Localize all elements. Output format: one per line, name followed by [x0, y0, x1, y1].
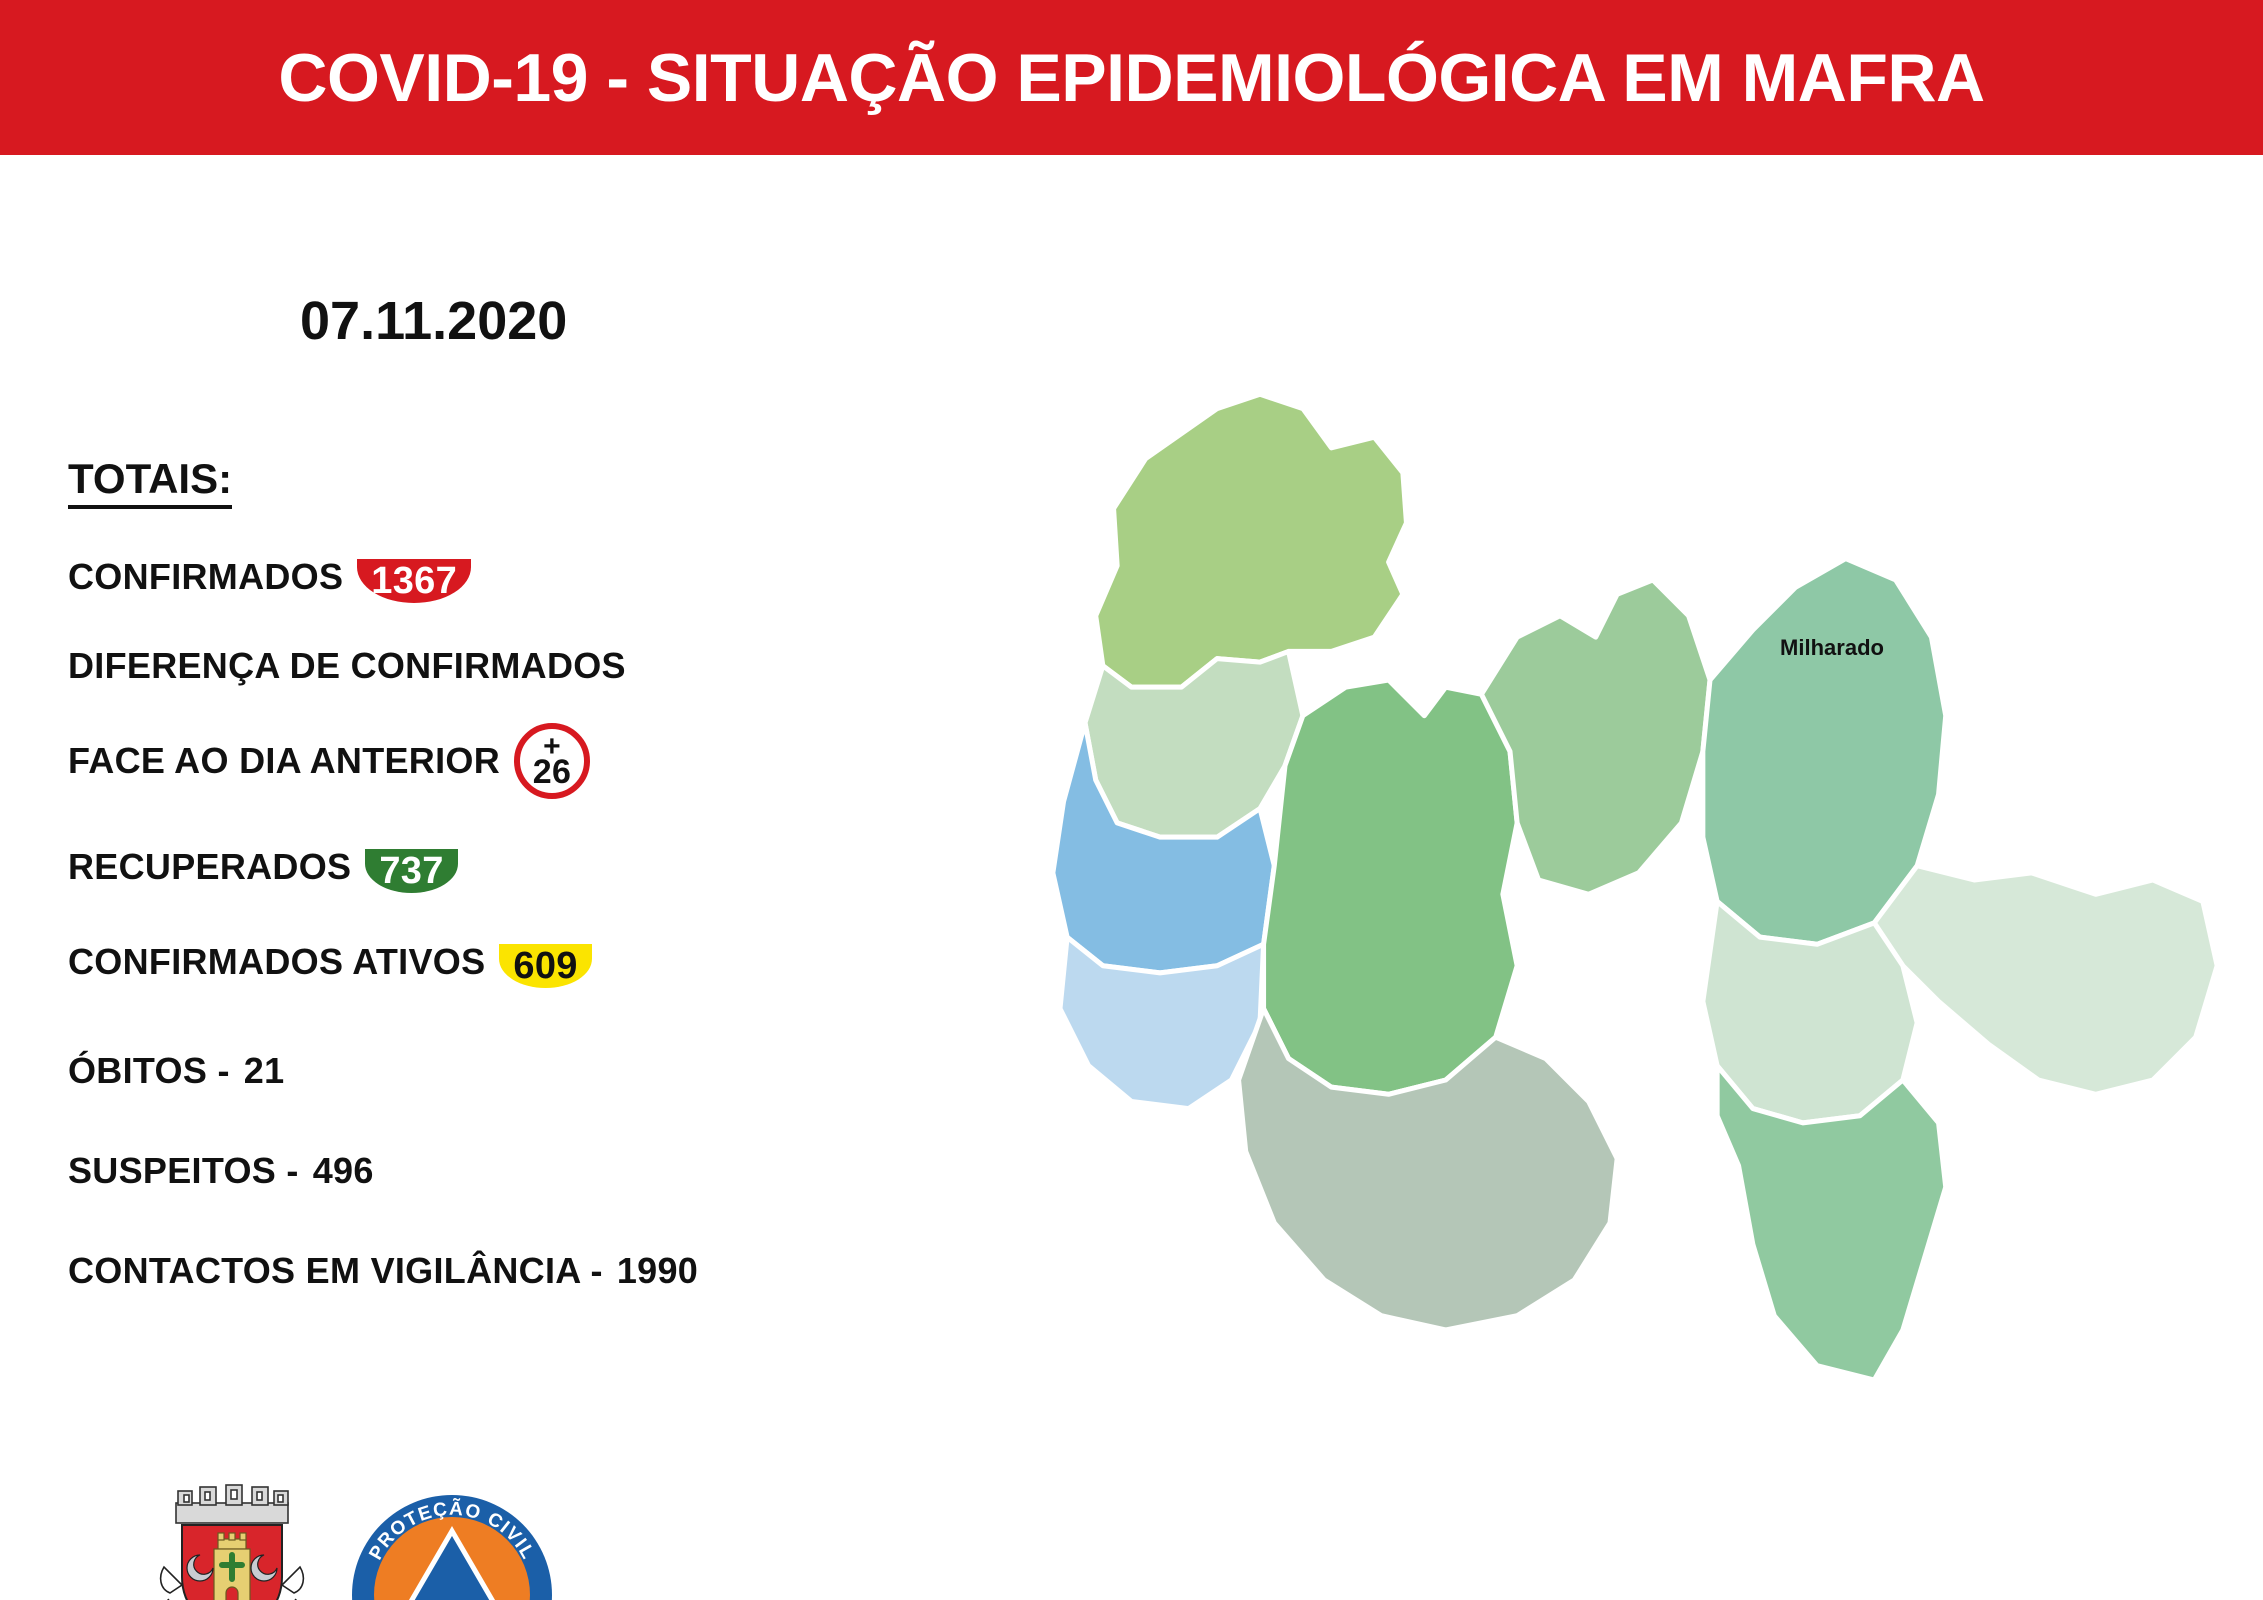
diferenca-label-line1: DIFERENÇA DE CONFIRMADOS — [68, 645, 626, 687]
row-diferenca-line1: DIFERENÇA DE CONFIRMADOS — [68, 645, 626, 687]
report-date: 07.11.2020 — [300, 290, 567, 352]
row-diferenca-line2: FACE AO DIA ANTERIOR + 26 — [68, 723, 590, 799]
infographic-page: COVID-19 - SITUAÇÃO EPIDEMIOLÓGICA EM MA… — [0, 0, 2263, 1600]
page-header: COVID-19 - SITUAÇÃO EPIDEMIOLÓGICA EM MA… — [0, 0, 2263, 155]
municipio-mafra-logo: MUNICÍPIO DE MAFRA — [161, 1485, 304, 1600]
logos-row: MUNICÍPIO DE MAFRA PROTEÇÃO CIVIL MAFR — [140, 1475, 560, 1600]
diferenca-value: 26 — [533, 759, 571, 787]
totals-heading: TOTAIS: — [68, 455, 232, 509]
row-suspeitos: SUSPEITOS - 496 — [68, 1150, 374, 1192]
protecao-civil-logo: PROTEÇÃO CIVIL MAFRA — [352, 1495, 552, 1600]
suspeitos-value: 496 — [313, 1150, 374, 1192]
region-milharado — [1874, 866, 2217, 1095]
logo-group: MUNICÍPIO DE MAFRA PROTEÇÃO CIVIL MAFR — [140, 1475, 560, 1600]
vigilancia-value: 1990 — [617, 1250, 698, 1292]
obitos-label: ÓBITOS - — [68, 1050, 230, 1092]
map-svg — [760, 180, 2260, 1580]
region-azueira-sobral — [1481, 580, 1710, 894]
row-recuperados: RECUPERADOS 737 — [68, 845, 458, 889]
region-encarnacao — [1096, 394, 1407, 687]
ativos-label: CONFIRMADOS ATIVOS — [68, 941, 485, 983]
mafra-municipality-map: Encarnação59479+1Santo Isidoro29821+1Eri… — [760, 180, 2260, 1580]
region-mafra — [1264, 680, 1518, 1094]
row-confirmados: CONFIRMADOS 1367 — [68, 555, 471, 599]
map-place-label-milharado: Milharado — [1780, 635, 1884, 661]
recuperados-label: RECUPERADOS — [68, 846, 351, 888]
region-santo-isidoro — [1085, 651, 1303, 837]
confirmados-badge: 1367 — [357, 559, 471, 603]
page-title: COVID-19 - SITUAÇÃO EPIDEMIOLÓGICA EM MA… — [278, 39, 1984, 117]
vigilancia-label: CONTACTOS EM VIGILÂNCIA - — [68, 1250, 603, 1292]
totals-sidebar: 07.11.2020 TOTAIS: CONFIRMADOS 1367 DIFE… — [0, 175, 800, 1595]
diferenca-label-line2: FACE AO DIA ANTERIOR — [68, 740, 500, 782]
row-obitos: ÓBITOS - 21 — [68, 1050, 284, 1092]
recuperados-badge: 737 — [365, 849, 457, 893]
ativos-badge: 609 — [499, 944, 591, 988]
confirmados-label: CONFIRMADOS — [68, 556, 343, 598]
row-ativos: CONFIRMADOS ATIVOS 609 — [68, 940, 592, 984]
row-vigilancia: CONTACTOS EM VIGILÂNCIA - 1990 — [68, 1250, 698, 1292]
diferenca-badge: + 26 — [514, 723, 590, 799]
obitos-value: 21 — [244, 1050, 285, 1092]
suspeitos-label: SUSPEITOS - — [68, 1150, 299, 1192]
